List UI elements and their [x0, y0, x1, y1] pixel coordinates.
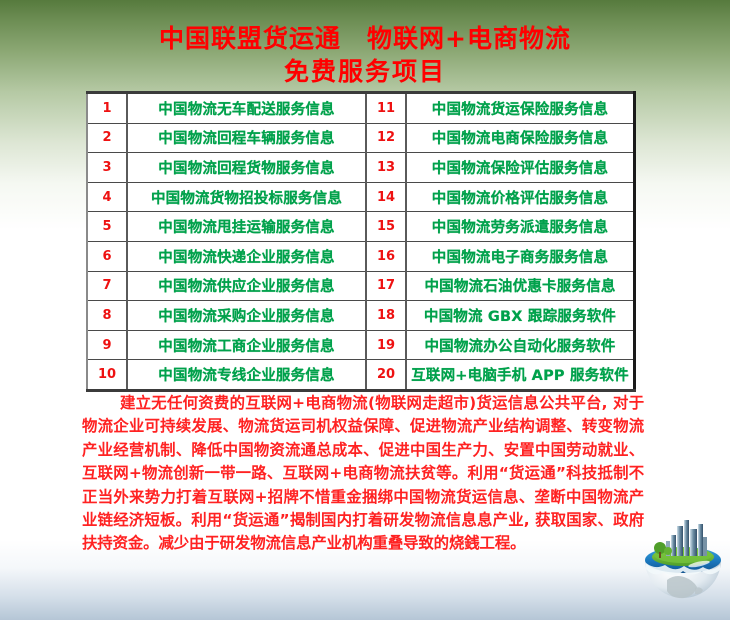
service-item-left[interactable]: 中国物流货物招投标服务信息	[127, 182, 366, 212]
service-item-right[interactable]: 中国物流价格评估服务信息	[406, 182, 635, 212]
service-items-table: 1中国物流无车配送服务信息11中国物流货运保险服务信息2中国物流回程车辆服务信息…	[86, 91, 636, 392]
slide-page: 中国联盟货运通 物联网+电商物流 免费服务项目 1中国物流无车配送服务信息11中…	[0, 0, 730, 620]
title-line-2: 免费服务项目	[0, 55, 730, 88]
city-buildings	[666, 520, 707, 556]
row-number-right: 15	[366, 212, 406, 242]
service-items-body: 1中国物流无车配送服务信息11中国物流货运保险服务信息2中国物流回程车辆服务信息…	[87, 93, 635, 391]
service-item-right[interactable]: 互联网+电脑手机 APP 服务软件	[406, 360, 635, 391]
row-number-right: 19	[366, 330, 406, 360]
service-item-left[interactable]: 中国物流供应企业服务信息	[127, 271, 366, 301]
row-number-left: 9	[87, 330, 127, 360]
globe-svg	[637, 516, 729, 616]
row-number-right: 11	[366, 93, 406, 124]
service-item-right[interactable]: 中国物流保险评估服务信息	[406, 153, 635, 183]
row-number-left: 1	[87, 93, 127, 124]
row-number-left: 6	[87, 241, 127, 271]
service-item-right[interactable]: 中国物流石油优惠卡服务信息	[406, 271, 635, 301]
service-item-left[interactable]: 中国物流甩挂运输服务信息	[127, 212, 366, 242]
table-row: 3中国物流回程货物服务信息13中国物流保险评估服务信息	[87, 153, 635, 183]
title-line-1: 中国联盟货运通 物联网+电商物流	[0, 22, 730, 55]
service-item-right[interactable]: 中国物流电子商务服务信息	[406, 241, 635, 271]
service-item-left[interactable]: 中国物流采购企业服务信息	[127, 301, 366, 331]
table-row: 1中国物流无车配送服务信息11中国物流货运保险服务信息	[87, 93, 635, 124]
service-item-right[interactable]: 中国物流货运保险服务信息	[406, 93, 635, 124]
page-title: 中国联盟货运通 物联网+电商物流 免费服务项目	[0, 22, 730, 88]
table-row: 9中国物流工商企业服务信息19中国物流办公自动化服务软件	[87, 330, 635, 360]
row-number-right: 20	[366, 360, 406, 391]
service-item-left[interactable]: 中国物流快递企业服务信息	[127, 241, 366, 271]
table-row: 10中国物流专线企业服务信息20互联网+电脑手机 APP 服务软件	[87, 360, 635, 391]
service-item-left[interactable]: 中国物流无车配送服务信息	[127, 93, 366, 124]
service-item-right[interactable]: 中国物流办公自动化服务软件	[406, 330, 635, 360]
row-number-right: 17	[366, 271, 406, 301]
table-row: 6中国物流快递企业服务信息16中国物流电子商务服务信息	[87, 241, 635, 271]
row-number-left: 3	[87, 153, 127, 183]
service-item-left[interactable]: 中国物流工商企业服务信息	[127, 330, 366, 360]
row-number-right: 14	[366, 182, 406, 212]
row-number-left: 8	[87, 301, 127, 331]
row-number-right: 12	[366, 123, 406, 153]
row-number-left: 2	[87, 123, 127, 153]
table-row: 4中国物流货物招投标服务信息14中国物流价格评估服务信息	[87, 182, 635, 212]
table-row: 5中国物流甩挂运输服务信息15中国物流劳务派遣服务信息	[87, 212, 635, 242]
table-row: 8中国物流采购企业服务信息18中国物流 GBX 跟踪服务软件	[87, 301, 635, 331]
row-number-right: 18	[366, 301, 406, 331]
table-row: 7中国物流供应企业服务信息17中国物流石油优惠卡服务信息	[87, 271, 635, 301]
row-number-left: 4	[87, 182, 127, 212]
table-row: 2中国物流回程车辆服务信息12中国物流电商保险服务信息	[87, 123, 635, 153]
service-item-left[interactable]: 中国物流专线企业服务信息	[127, 360, 366, 391]
service-item-left[interactable]: 中国物流回程货物服务信息	[127, 153, 366, 183]
row-number-right: 13	[366, 153, 406, 183]
row-number-left: 10	[87, 360, 127, 391]
service-item-right[interactable]: 中国物流电商保险服务信息	[406, 123, 635, 153]
service-item-left[interactable]: 中国物流回程车辆服务信息	[127, 123, 366, 153]
service-item-right[interactable]: 中国物流劳务派遣服务信息	[406, 212, 635, 242]
service-item-right[interactable]: 中国物流 GBX 跟踪服务软件	[406, 301, 635, 331]
row-number-left: 5	[87, 212, 127, 242]
row-number-left: 7	[87, 271, 127, 301]
eco-city-globe-graphic	[637, 516, 729, 616]
row-number-right: 16	[366, 241, 406, 271]
description-paragraph: 建立无任何资费的互联网+电商物流(物联网走超市)货运信息公共平台, 对于物流企业…	[82, 392, 644, 556]
